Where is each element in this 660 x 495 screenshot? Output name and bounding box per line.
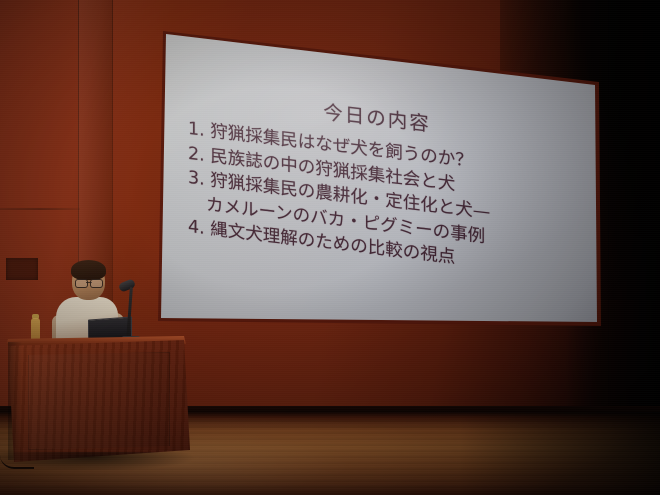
- podium-left-edge: [8, 342, 22, 460]
- wall-plate: [6, 258, 38, 280]
- speaker-hair: [71, 260, 106, 280]
- slide-item-4-number: 4.: [188, 217, 205, 239]
- water-bottle: [31, 318, 40, 342]
- lecture-hall-photo: 今日の内容 1. 狩猟採集民はなぜ犬を飼うのか？ 2. 民族誌の中の狩猟採集社会…: [0, 0, 660, 495]
- floor-right-shadow: [460, 412, 660, 495]
- slide-item-3-number: 3.: [188, 168, 205, 190]
- slide-item-2-number: 2.: [188, 143, 205, 165]
- podium-front-panel: [28, 352, 170, 450]
- eyeglasses-icon: [75, 279, 103, 286]
- slide-item-1-number: 1.: [188, 119, 205, 141]
- wall-horizontal-line: [0, 208, 80, 210]
